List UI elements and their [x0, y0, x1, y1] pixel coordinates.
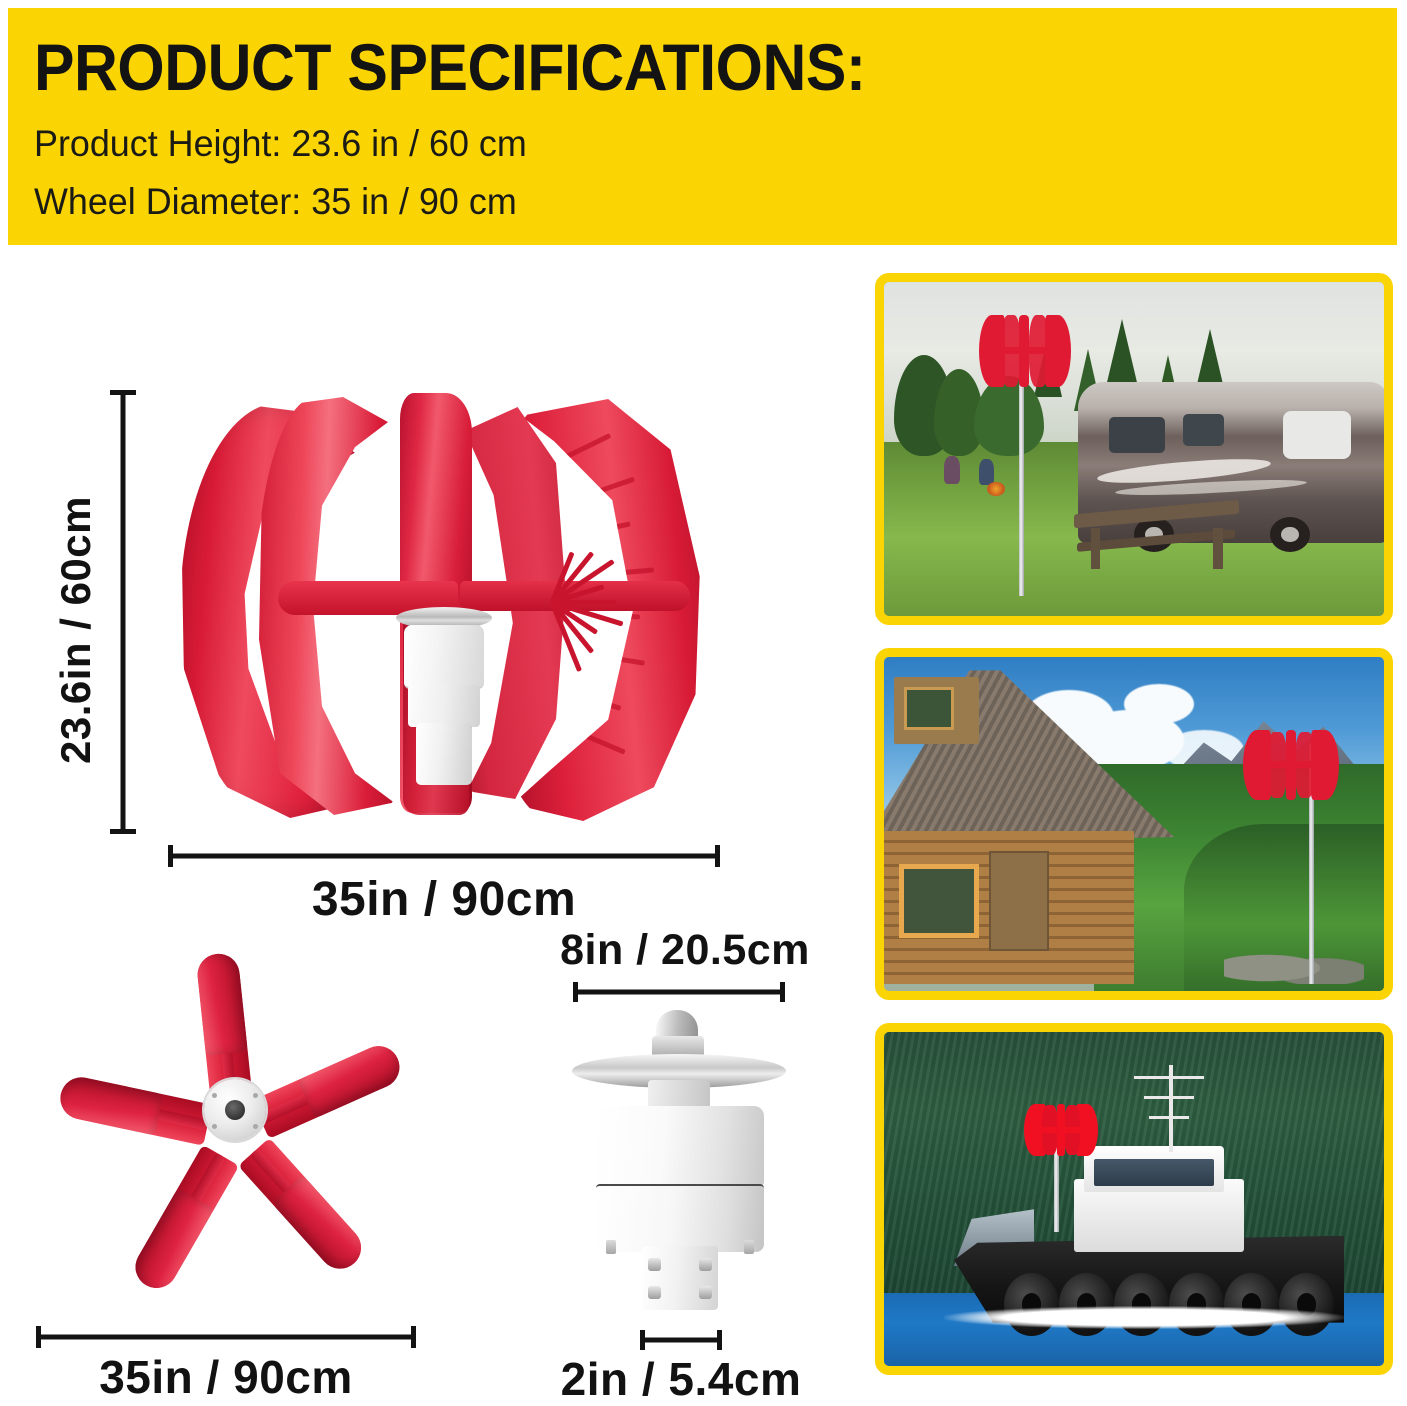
- dimension-line-width: [168, 845, 720, 867]
- rotor-hub: [204, 1079, 266, 1141]
- mounted-turbine: [1243, 730, 1339, 800]
- cabin-window: [899, 864, 979, 937]
- turbine-generator-body-lower: [408, 685, 480, 727]
- dimension-label-width: 35in / 90cm: [168, 872, 720, 927]
- product-specifications-banner: PRODUCT SPECIFICATIONS: Product Height: …: [8, 8, 1397, 245]
- mountain-cabin-photo: [875, 648, 1393, 1000]
- dimension-line-generator-width: [573, 982, 785, 1002]
- spec-line-product-height: Product Height: 23.6 in / 60 cm: [34, 116, 1356, 172]
- dimension-line-rotor-width: [36, 1326, 416, 1348]
- generator-illustration: [560, 1010, 800, 1310]
- camper-person: [944, 456, 960, 484]
- dimension-label-height: 23.6in / 60cm: [52, 450, 100, 810]
- turbine-generator-body: [404, 625, 484, 689]
- dimension-line-height: [110, 390, 136, 834]
- mounted-turbine: [979, 315, 1071, 387]
- boat-wake: [944, 1306, 1344, 1329]
- turbine-generator-mount: [416, 723, 472, 785]
- generator-upper-housing: [596, 1106, 764, 1186]
- turbine-hub-spokes: [552, 535, 702, 665]
- cabin-dormer-window: [904, 687, 954, 730]
- tugboat-photo: [875, 1023, 1393, 1375]
- camper-person: [979, 459, 994, 485]
- dimension-label-rotor-width: 35in / 90cm: [36, 1350, 416, 1404]
- rotor-blade: [128, 1145, 239, 1296]
- campfire: [987, 482, 1005, 496]
- rv-campsite-photo: [875, 273, 1393, 625]
- mounted-turbine: [1024, 1104, 1098, 1156]
- dimension-line-generator-mount: [640, 1330, 722, 1350]
- rotor-blade: [57, 1073, 212, 1145]
- dimension-label-generator-width: 8in / 20.5cm: [540, 926, 830, 975]
- rotor-illustration: [40, 945, 430, 1275]
- dimension-label-generator-mount: 2in / 5.4cm: [560, 1352, 802, 1406]
- generator-lower-housing: [596, 1184, 764, 1252]
- spec-line-wheel-diameter: Wheel Diameter: 35 in / 90 cm: [34, 174, 1356, 230]
- turbine-pole: [1054, 1146, 1059, 1233]
- generator-pole-mount: [642, 1246, 718, 1310]
- picnic-table: [1074, 489, 1239, 569]
- rotor-blade: [252, 1039, 406, 1138]
- page-title: PRODUCT SPECIFICATIONS:: [34, 30, 1288, 104]
- cabin-door: [989, 851, 1049, 951]
- main-turbine-illustration: [160, 385, 740, 835]
- rotor-blade: [238, 1138, 370, 1278]
